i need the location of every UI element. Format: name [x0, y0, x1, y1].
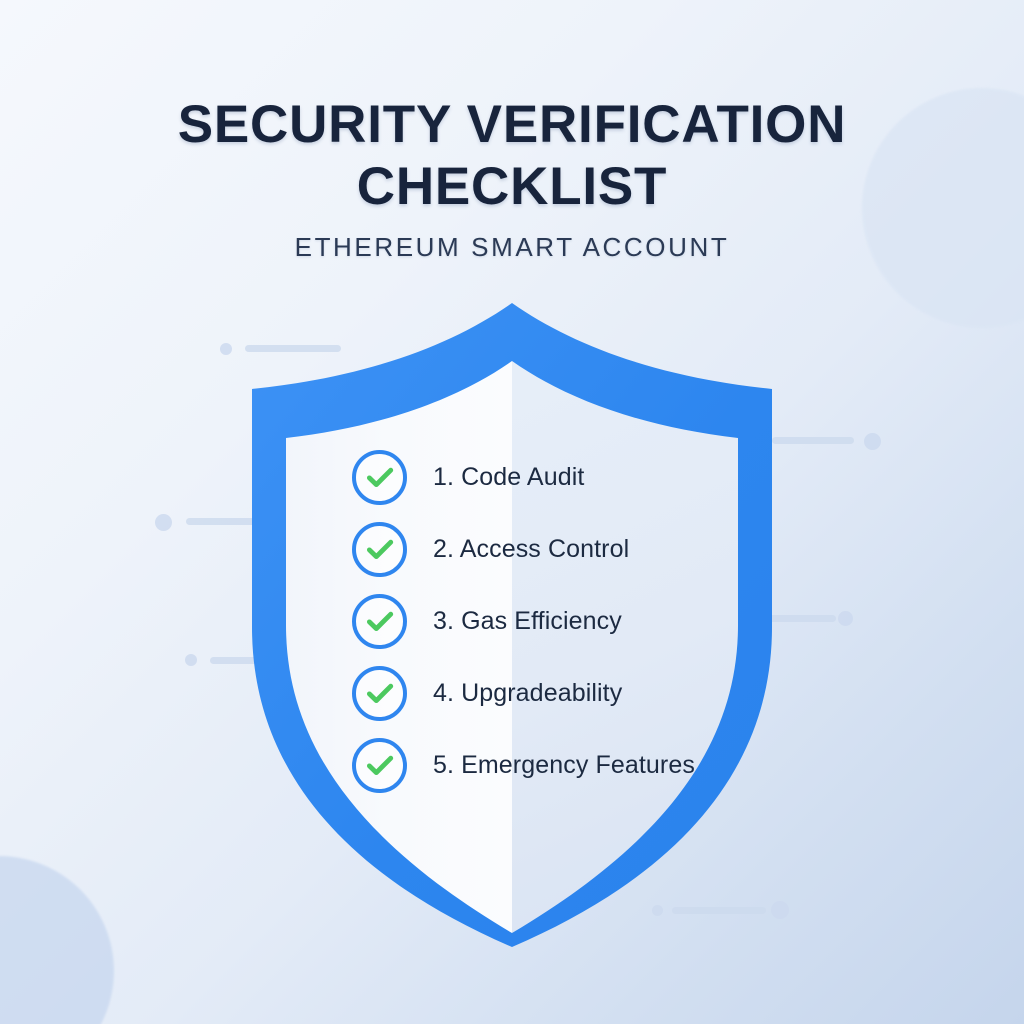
checkbox-circle[interactable]: [352, 522, 407, 577]
checklist-item-label: 2. Access Control: [433, 535, 629, 564]
page-subtitle: ETHEREUM SMART ACCOUNT: [0, 232, 1024, 263]
checkbox-circle[interactable]: [352, 594, 407, 649]
decor-dot-2: [155, 514, 172, 531]
checklist-item-label: 1. Code Audit: [433, 463, 584, 492]
page-title: SECURITY VERIFICATION CHECKLIST: [0, 94, 1024, 218]
poster-canvas: SECURITY VERIFICATION CHECKLIST ETHEREUM…: [0, 0, 1024, 1024]
check-icon: [363, 532, 397, 566]
decor-line-4: [772, 437, 854, 444]
check-icon: [363, 676, 397, 710]
check-icon: [363, 748, 397, 782]
checklist-item-label: 4. Upgradeability: [433, 679, 622, 708]
checklist-item-label: 3. Gas Efficiency: [433, 607, 622, 636]
checklist-item-label: 5. Emergency Features: [433, 751, 695, 780]
checklist-item[interactable]: 1. Code Audit: [352, 446, 752, 508]
checklist-item[interactable]: 4. Upgradeability: [352, 662, 752, 724]
checklist: 1. Code Audit2. Access Control3. Gas Eff…: [352, 446, 752, 796]
decor-dot-5: [838, 611, 853, 626]
decor-dot-4: [864, 433, 881, 450]
decor-dot-1: [220, 343, 232, 355]
check-icon: [363, 460, 397, 494]
decor-dot-3: [185, 654, 197, 666]
checklist-item[interactable]: 5. Emergency Features: [352, 734, 752, 796]
checklist-item[interactable]: 3. Gas Efficiency: [352, 590, 752, 652]
checkbox-circle[interactable]: [352, 666, 407, 721]
checkbox-circle[interactable]: [352, 450, 407, 505]
checklist-item[interactable]: 2. Access Control: [352, 518, 752, 580]
background-blob-bottom-left: [0, 856, 114, 1024]
check-icon: [363, 604, 397, 638]
checkbox-circle[interactable]: [352, 738, 407, 793]
header: SECURITY VERIFICATION CHECKLIST ETHEREUM…: [0, 94, 1024, 263]
